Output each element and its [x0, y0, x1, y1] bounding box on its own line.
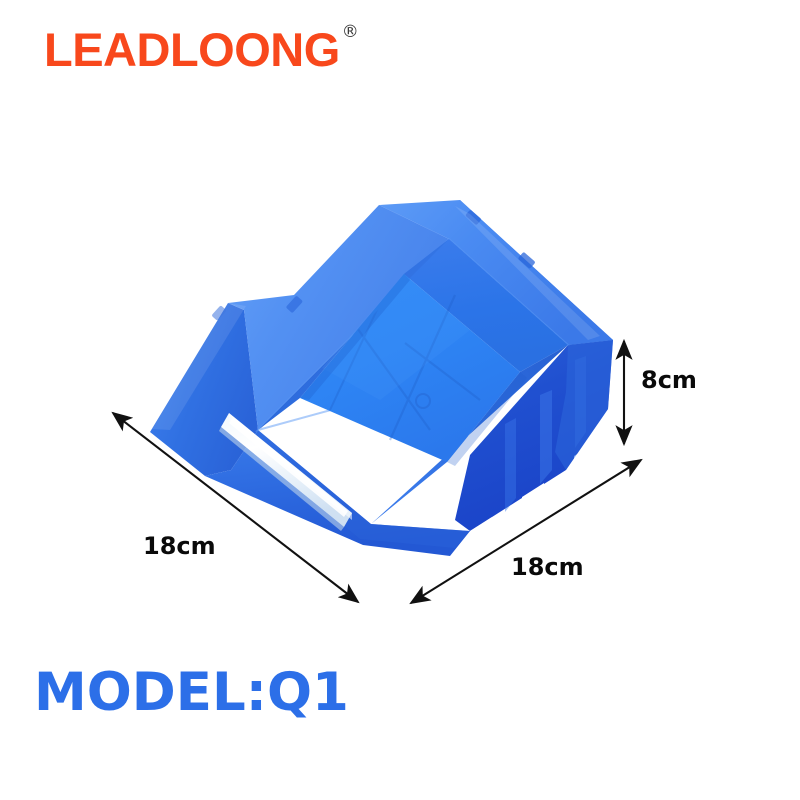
model-caption: MODEL:Q1	[34, 662, 349, 723]
bin-outer-left-face	[150, 303, 258, 476]
dimension-label-depth: 18cm	[511, 553, 584, 581]
dimension-label-width: 18cm	[143, 532, 216, 560]
product-image-canvas: LEADLOONG ®	[0, 0, 800, 800]
dimension-label-height: 8cm	[641, 366, 697, 394]
